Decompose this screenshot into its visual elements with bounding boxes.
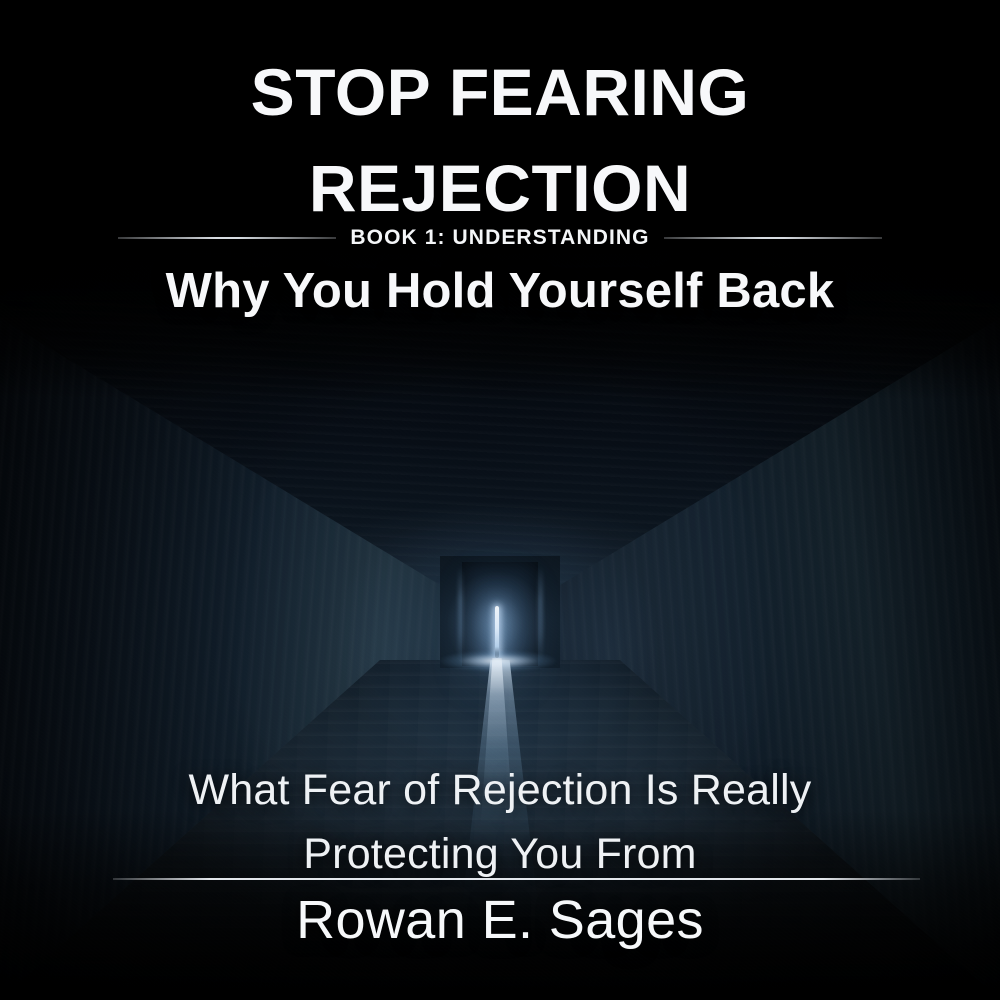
cover-title: STOP FEARING REJECTION	[0, 44, 1000, 236]
author-divider-rule	[113, 878, 920, 880]
series-rule-right	[664, 237, 882, 239]
cover-tagline: What Fear of Rejection Is Really Protect…	[0, 758, 1000, 886]
cover-title-line-2: REJECTION	[0, 140, 1000, 236]
series-rule-left	[118, 237, 336, 239]
cover-subtitle: Why You Hold Yourself Back	[0, 258, 1000, 324]
series-label-row: BOOK 1: UNDERSTANDING	[0, 226, 1000, 250]
cover-tagline-line-1: What Fear of Rejection Is Really	[0, 758, 1000, 822]
book-cover: STOP FEARING REJECTION BOOK 1: UNDERSTAN…	[0, 0, 1000, 1000]
cover-title-line-1: STOP FEARING	[0, 44, 1000, 140]
cover-tagline-line-2: Protecting You From	[0, 822, 1000, 886]
series-label: BOOK 1: UNDERSTANDING	[350, 226, 649, 250]
cover-text-content: STOP FEARING REJECTION BOOK 1: UNDERSTAN…	[0, 0, 1000, 1000]
cover-author-name: Rowan E. Sages	[0, 884, 1000, 956]
